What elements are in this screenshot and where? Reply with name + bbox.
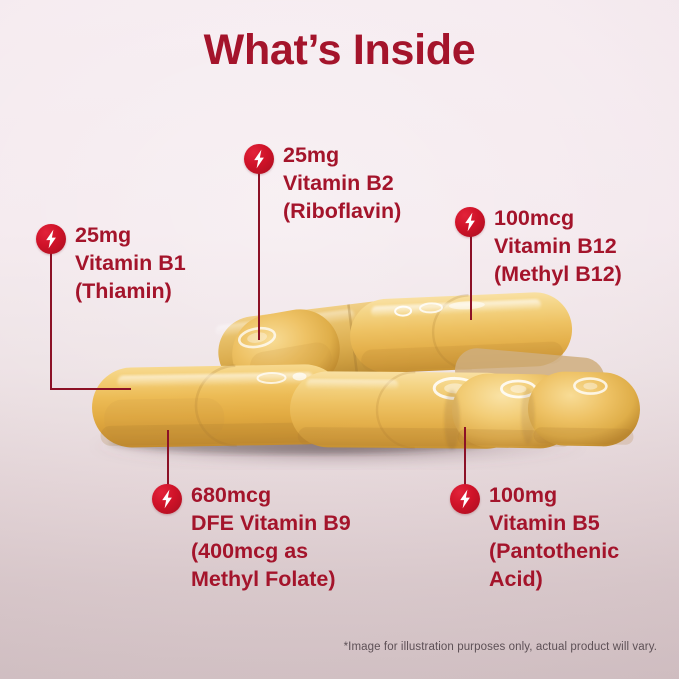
lightning-bolt-icon [36,224,66,254]
leader-line-vitamin-b5-vertical [464,427,466,489]
disclaimer-footnote: *Image for illustration purposes only, a… [344,641,657,653]
callout-vitamin-b12: 100mcg Vitamin B12 (Methyl B12) [455,205,622,289]
callout-form-line-2: Acid) [489,566,619,594]
lightning-bolt-icon [450,484,480,514]
callout-vitamin-b5: 100mg Vitamin B5 (Pantothenic Acid) [450,482,619,594]
callout-vitamin-b12-text: 100mcg Vitamin B12 (Methyl B12) [494,205,622,289]
callout-amount: 100mg [489,482,619,510]
callout-name: DFE Vitamin B9 [191,510,351,538]
callout-name: Vitamin B2 [283,170,401,198]
leader-line-vitamin-b9-vertical [167,430,169,490]
callout-form: (Methyl B12) [494,261,622,289]
callout-amount: 100mcg [494,205,622,233]
callout-name: Vitamin B12 [494,233,622,261]
callout-vitamin-b1: 25mg Vitamin B1 (Thiamin) [36,222,186,306]
lightning-bolt-icon [244,144,274,174]
page-title: What’s Inside [0,26,679,75]
callout-amount: 680mcg [191,482,351,510]
callout-vitamin-b5-text: 100mg Vitamin B5 (Pantothenic Acid) [489,482,619,594]
callout-form-line-1: (400mcg as [191,538,351,566]
callout-form-line-2: Methyl Folate) [191,566,351,594]
callout-name: Vitamin B5 [489,510,619,538]
callout-form: (Riboflavin) [283,198,401,226]
callout-amount: 25mg [283,142,401,170]
callout-amount: 25mg [75,222,186,250]
infographic-canvas: What’s Inside [0,0,679,679]
callout-vitamin-b2: 25mg Vitamin B2 (Riboflavin) [244,142,401,226]
callout-name: Vitamin B1 [75,250,186,278]
callout-vitamin-b9: 680mcg DFE Vitamin B9 (400mcg as Methyl … [152,482,351,594]
lightning-bolt-icon [152,484,182,514]
leader-line-vitamin-b1-horizontal [50,388,131,390]
callout-form-line-1: (Pantothenic [489,538,619,566]
callout-form: (Thiamin) [75,278,186,306]
callout-vitamin-b1-text: 25mg Vitamin B1 (Thiamin) [75,222,186,306]
callout-vitamin-b9-text: 680mcg DFE Vitamin B9 (400mcg as Methyl … [191,482,351,594]
callout-vitamin-b2-text: 25mg Vitamin B2 (Riboflavin) [283,142,401,226]
lightning-bolt-icon [455,207,485,237]
